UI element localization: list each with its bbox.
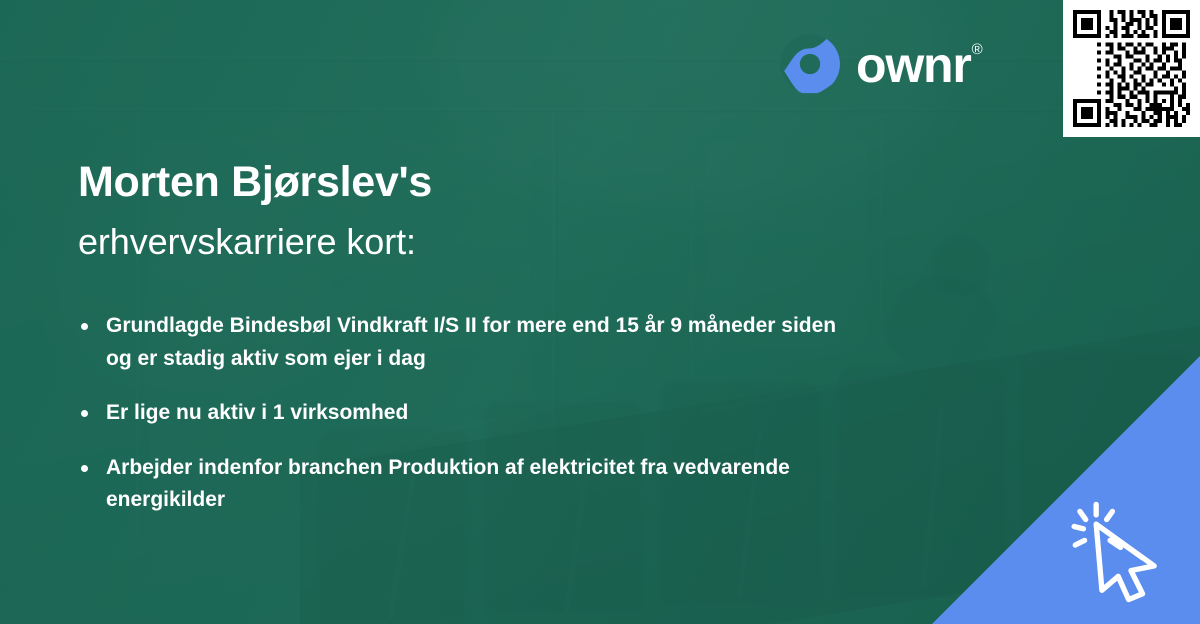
person-name: Morten Bjørslev's (78, 158, 898, 208)
career-facts-list: Grundlagde Bindesbøl Vindkraft I/S II fo… (80, 310, 840, 539)
registered-trademark-icon: ® (972, 41, 983, 58)
ownr-name: ownr (856, 37, 971, 93)
page-subtitle: erhvervskarriere kort: (78, 220, 898, 263)
list-item: Arbejder indenfor branchen Produktion af… (80, 452, 840, 517)
ownr-wordmark: ownr® (856, 40, 982, 90)
list-item: Grundlagde Bindesbøl Vindkraft I/S II fo… (80, 310, 840, 375)
career-summary-card: ownr® (0, 0, 1200, 624)
qr-code[interactable] (1063, 0, 1200, 137)
click-cursor-icon (1066, 494, 1182, 610)
page-title: Morten Bjørslev's erhvervskarriere kort: (78, 158, 898, 263)
list-item: Er lige nu aktiv i 1 virksomhed (80, 397, 840, 430)
ownr-circle-swoosh-icon (779, 33, 841, 95)
ownr-logo[interactable]: ownr® (779, 33, 982, 95)
qr-code-icon (1073, 10, 1190, 127)
